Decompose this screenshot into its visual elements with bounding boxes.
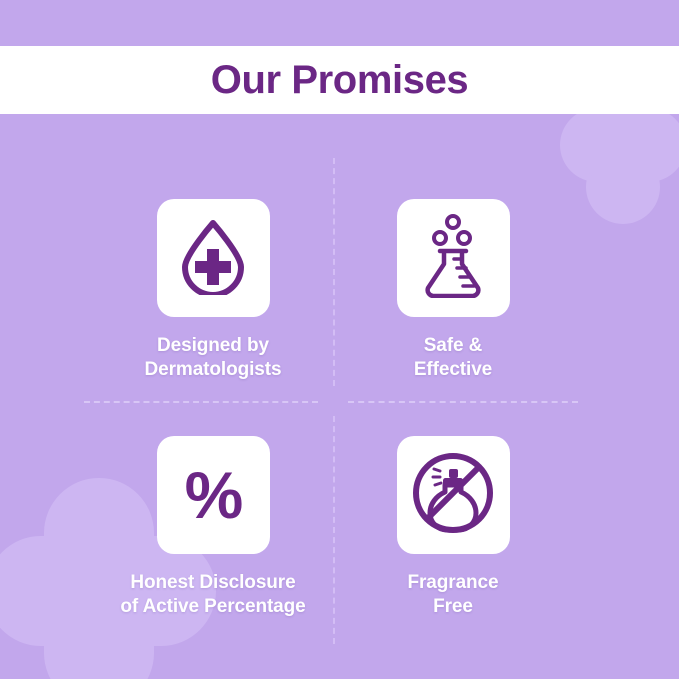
promise-icon-card <box>397 436 510 554</box>
no-fragrance-icon <box>412 452 494 539</box>
promise-icon-card: % <box>157 436 270 554</box>
promise-icon-card <box>157 199 270 317</box>
promise-item-fragrance-free: Fragrance Free <box>288 436 618 620</box>
promise-label: Safe & Effective <box>414 334 492 383</box>
promise-item-safe-and-effective: Safe & Effective <box>288 199 618 383</box>
percent-icon: % <box>185 462 242 528</box>
promise-label: Designed by Dermatologists <box>145 334 282 383</box>
lab-flask-icon <box>418 214 488 303</box>
promise-label: Honest Disclosure of Active Percentage <box>120 571 305 620</box>
droplet-plus-icon <box>177 217 249 300</box>
promise-label: Fragrance Free <box>408 571 499 620</box>
promises-banner: Our Promises Designed by Dermatologists <box>0 0 679 679</box>
promise-grid: Designed by Dermatologists <box>0 0 679 679</box>
promise-icon-card <box>397 199 510 317</box>
